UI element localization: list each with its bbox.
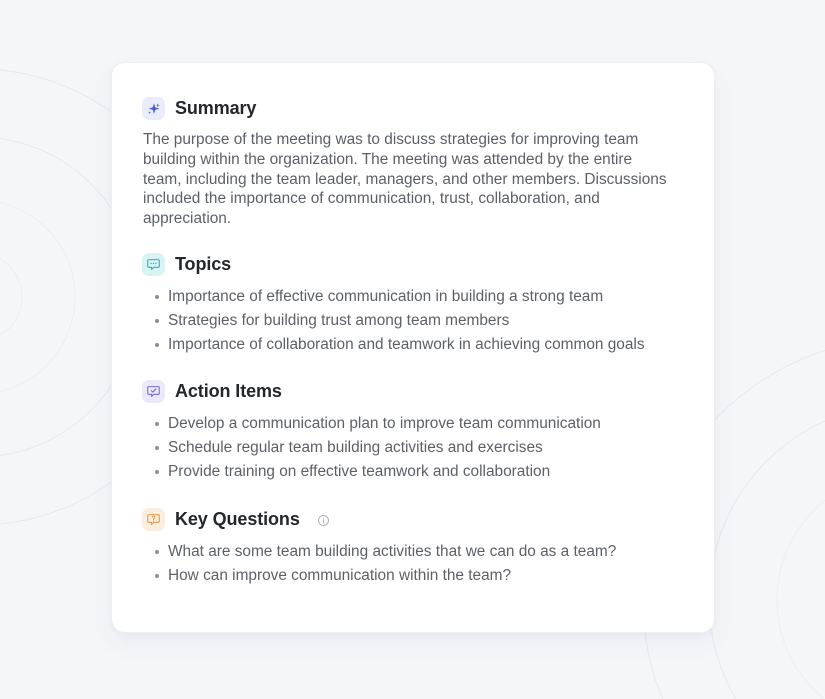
topics-list: Importance of effective communication in… [142,287,684,355]
list-item: Develop a communication plan to improve … [142,414,672,434]
section-summary-header: Summary [142,97,684,120]
list-item: How can improve communication within the… [142,566,672,586]
section-title: Key Questions [175,509,300,531]
list-item: Provide training on effective teamwork a… [142,462,672,482]
list-item: Schedule regular team building activitie… [142,438,672,458]
section-key-questions-header: Key Questions [142,508,684,531]
list-item: Importance of effective communication in… [142,287,672,307]
section-title: Summary [175,98,256,120]
chat-bubble-question-icon [142,508,165,531]
chat-bubble-dots-icon [142,253,165,276]
list-item: Strategies for building trust among team… [142,311,672,331]
section-title: Action Items [175,381,282,403]
meeting-summary-card: Summary The purpose of the meeting was t… [111,62,715,633]
key-questions-list: What are some team building activities t… [142,542,684,586]
section-topics: Topics Importance of effective communica… [142,253,684,355]
info-icon[interactable] [317,514,330,527]
summary-paragraph: The purpose of the meeting was to discus… [143,130,668,229]
action-items-list: Develop a communication plan to improve … [142,414,684,482]
section-key-questions: Key Questions What are some team buildin… [142,508,684,586]
section-title: Topics [175,254,231,276]
section-topics-header: Topics [142,253,684,276]
list-item: Importance of collaboration and teamwork… [142,335,672,355]
section-action-items: Action Items Develop a communication pla… [142,380,684,482]
section-summary: Summary The purpose of the meeting was t… [142,97,684,229]
sparkle-icon [142,97,165,120]
list-item: What are some team building activities t… [142,542,672,562]
chat-bubble-check-icon [142,380,165,403]
section-action-items-header: Action Items [142,380,684,403]
